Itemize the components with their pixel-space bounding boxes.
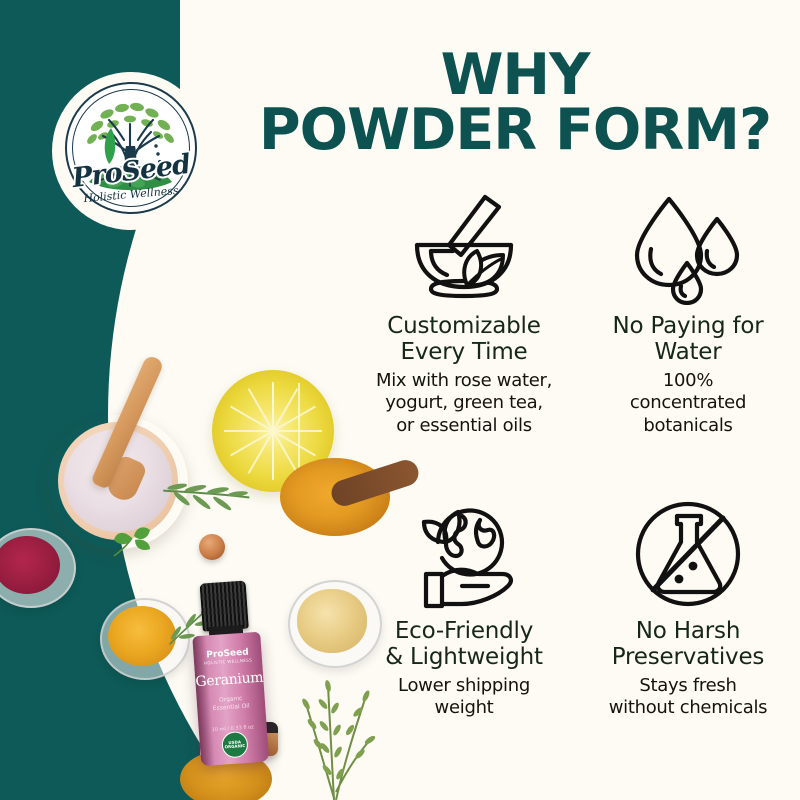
- feature-no-paying-for-water: No Paying for Water 100% concentrated bo…: [576, 190, 800, 438]
- headline-line-1: WHY: [250, 48, 780, 103]
- bottle-body: ProSeed HOLISTIC WELLNESS Geranium Organ…: [192, 632, 269, 766]
- headline-line-2: POWDER FORM?: [250, 103, 780, 158]
- cilantro-leaf: [108, 526, 154, 562]
- product-photo-collage: ProSeed HOLISTIC WELLNESS Geranium Organ…: [0, 330, 400, 800]
- bottle-product-name: Geranium: [195, 670, 264, 691]
- feature-title: Eco-Friendly & Lightweight: [352, 619, 576, 671]
- feature-title: No Harsh Preservatives: [576, 619, 800, 671]
- page-title: WHY POWDER FORM?: [250, 48, 780, 159]
- geranium-oil-bottle: ProSeed HOLISTIC WELLNESS Geranium Organ…: [180, 579, 277, 770]
- infographic-poster: ProSeed Holistic Wellness WHY POWDER FOR…: [0, 0, 800, 800]
- feature-body: Lower shipping weight: [352, 675, 576, 721]
- amber-vial-top: [199, 534, 225, 560]
- brand-logo: ProSeed Holistic Wellness: [52, 72, 210, 230]
- feature-body: 100% concentrated botanicals: [576, 370, 800, 439]
- feature-no-preservatives: No Harsh Preservatives Stays fresh witho…: [576, 495, 800, 720]
- feature-title: No Paying for Water: [576, 314, 800, 366]
- hand-holding-globe-icon: [352, 495, 576, 613]
- mortar-and-pestle-icon: [352, 190, 576, 308]
- feature-eco-friendly: Eco-Friendly & Lightweight Lower shippin…: [352, 495, 576, 720]
- water-droplets-icon: [576, 190, 800, 308]
- bottle-descriptor: Organic Essential Oil: [197, 694, 266, 715]
- usda-organic-seal: USDA ORGANIC: [221, 731, 249, 759]
- feature-grid: Customizable Every Time Mix with rose wa…: [352, 190, 800, 790]
- feature-customizable: Customizable Every Time Mix with rose wa…: [352, 190, 576, 438]
- no-chemicals-flask-icon: [576, 495, 800, 613]
- feature-body: Mix with rose water, yogurt, green tea, …: [352, 370, 576, 439]
- feature-title: Customizable Every Time: [352, 314, 576, 366]
- feature-body: Stays fresh without chemicals: [576, 675, 800, 721]
